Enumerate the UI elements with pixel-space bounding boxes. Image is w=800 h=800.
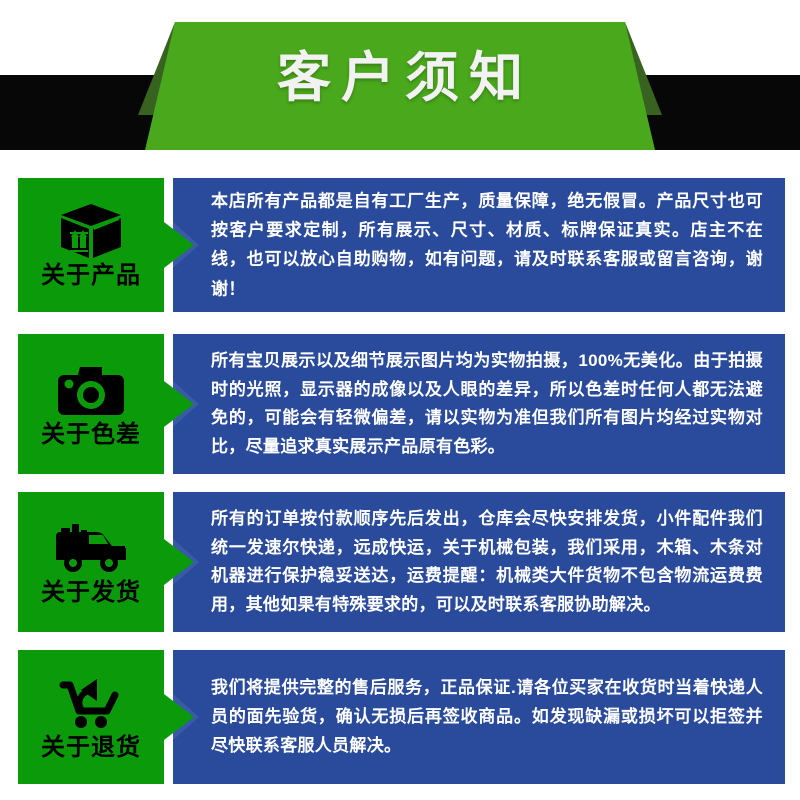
camera-icon (52, 360, 130, 420)
header-banner: 客户须知 (0, 0, 800, 160)
customer-notice-page: 客户须知 本店所有产品都是自有工厂生产，质量保障，绝无假冒。产品尺寸也可按客户要… (0, 0, 800, 800)
notice-label-text: 关于发货 (41, 580, 141, 606)
return-cart-icon (52, 673, 130, 733)
notice-text-panel: 所有宝贝展示以及细节展示图片均为实物拍摄，100%无美化。由于拍摄时的光照，显示… (173, 334, 785, 474)
banner-ribbon-body (145, 22, 655, 150)
notice-text-panel: 本店所有产品都是自有工厂生产，质量保障，绝无假冒。产品尺寸也可按客户要求定制，所… (173, 178, 785, 312)
notice-label-tile[interactable]: 关于产品 (18, 178, 194, 312)
notice-body-text: 本店所有产品都是自有工厂生产，质量保障，绝无假冒。产品尺寸也可按客户要求定制，所… (211, 187, 763, 304)
notice-label-tile[interactable]: 关于色差 (18, 334, 194, 474)
notice-section: 所有的订单按付款顺序先后发出，仓库会尽快安排发货，小件配件我们统一发速尔快递，远… (0, 492, 800, 632)
notice-text-panel: 所有的订单按付款顺序先后发出，仓库会尽快安排发货，小件配件我们统一发速尔快递，远… (173, 492, 785, 632)
box-package-icon (52, 201, 130, 261)
truck-icon (52, 518, 130, 578)
notice-label-text: 关于产品 (41, 263, 141, 289)
notice-text-panel: 我们将提供完整的售后服务，正品保证.请各位买家在收货时当着快递人员的面先验货，确… (173, 650, 785, 784)
notice-body-text: 所有的订单按付款顺序先后发出，仓库会尽快安排发货，小件配件我们统一发速尔快递，远… (211, 505, 763, 619)
notice-section: 我们将提供完整的售后服务，正品保证.请各位买家在收货时当着快递人员的面先验货，确… (0, 650, 800, 784)
banner-ribbon-graphic (0, 0, 800, 160)
notice-body-text: 所有宝贝展示以及细节展示图片均为实物拍摄，100%无美化。由于拍摄时的光照，显示… (211, 347, 763, 461)
notice-section: 所有宝贝展示以及细节展示图片均为实物拍摄，100%无美化。由于拍摄时的光照，显示… (0, 334, 800, 474)
notice-label-tile[interactable]: 关于退货 (18, 650, 194, 784)
notice-body-text: 我们将提供完整的售后服务，正品保证.请各位买家在收货时当着快递人员的面先验货，确… (211, 673, 763, 761)
notice-label-text: 关于退货 (41, 735, 141, 761)
notice-section: 本店所有产品都是自有工厂生产，质量保障，绝无假冒。产品尺寸也可按客户要求定制，所… (0, 178, 800, 312)
notice-label-text: 关于色差 (41, 422, 141, 448)
notice-label-tile[interactable]: 关于发货 (18, 492, 194, 632)
